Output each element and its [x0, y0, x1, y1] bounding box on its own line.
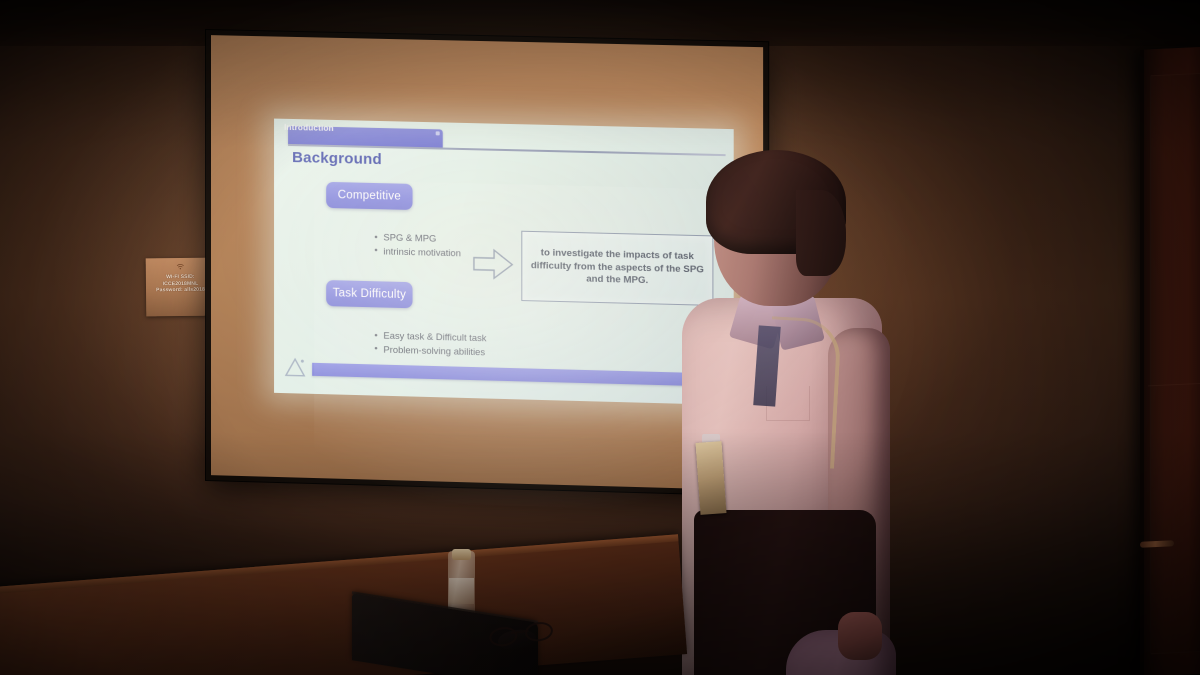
- tab-corner-marker: [436, 131, 440, 135]
- slide-footer-bar: [312, 363, 715, 387]
- lanyard: [764, 316, 842, 468]
- water-bottle-cap[interactable]: [452, 549, 471, 560]
- slide-pill-task-difficulty: Task Difficulty: [326, 280, 412, 308]
- eyeglass-lens-right: [524, 620, 554, 643]
- conference-badge: [696, 441, 727, 515]
- door[interactable]: [1140, 46, 1200, 675]
- presentation-room-scene: WI-FI SSID: ICCE2018MNL Password: alls20…: [0, 0, 1200, 675]
- water-bottle-label: [449, 578, 474, 604]
- wifi-password: Password: alls2018: [156, 287, 205, 294]
- delta-logo-icon: [284, 357, 306, 378]
- door-panel: [1150, 72, 1200, 654]
- list-item: Problem-solving abilities: [374, 342, 486, 358]
- presenter: [660, 150, 920, 675]
- wifi-info-sign: WI-FI SSID: ICCE2018MNL Password: alls20…: [146, 258, 216, 317]
- presenter-hair-side: [796, 190, 846, 276]
- eyeglass-lens-left: [488, 625, 518, 648]
- list-item: intrinsic motivation: [374, 244, 461, 260]
- slide-bullet-list-2: Easy task & Difficult task Problem-solvi…: [334, 328, 486, 359]
- slide-title: Background: [292, 149, 382, 168]
- wifi-icon: [176, 262, 185, 271]
- slide-section-tab-label: Introduction: [284, 122, 334, 132]
- right-arrow-icon: [472, 247, 514, 282]
- presenter-hand: [838, 612, 882, 660]
- slide-bullet-list-1: SPG & MPG intrinsic motivation: [334, 230, 461, 260]
- slide-pill-competitive: Competitive: [326, 182, 412, 210]
